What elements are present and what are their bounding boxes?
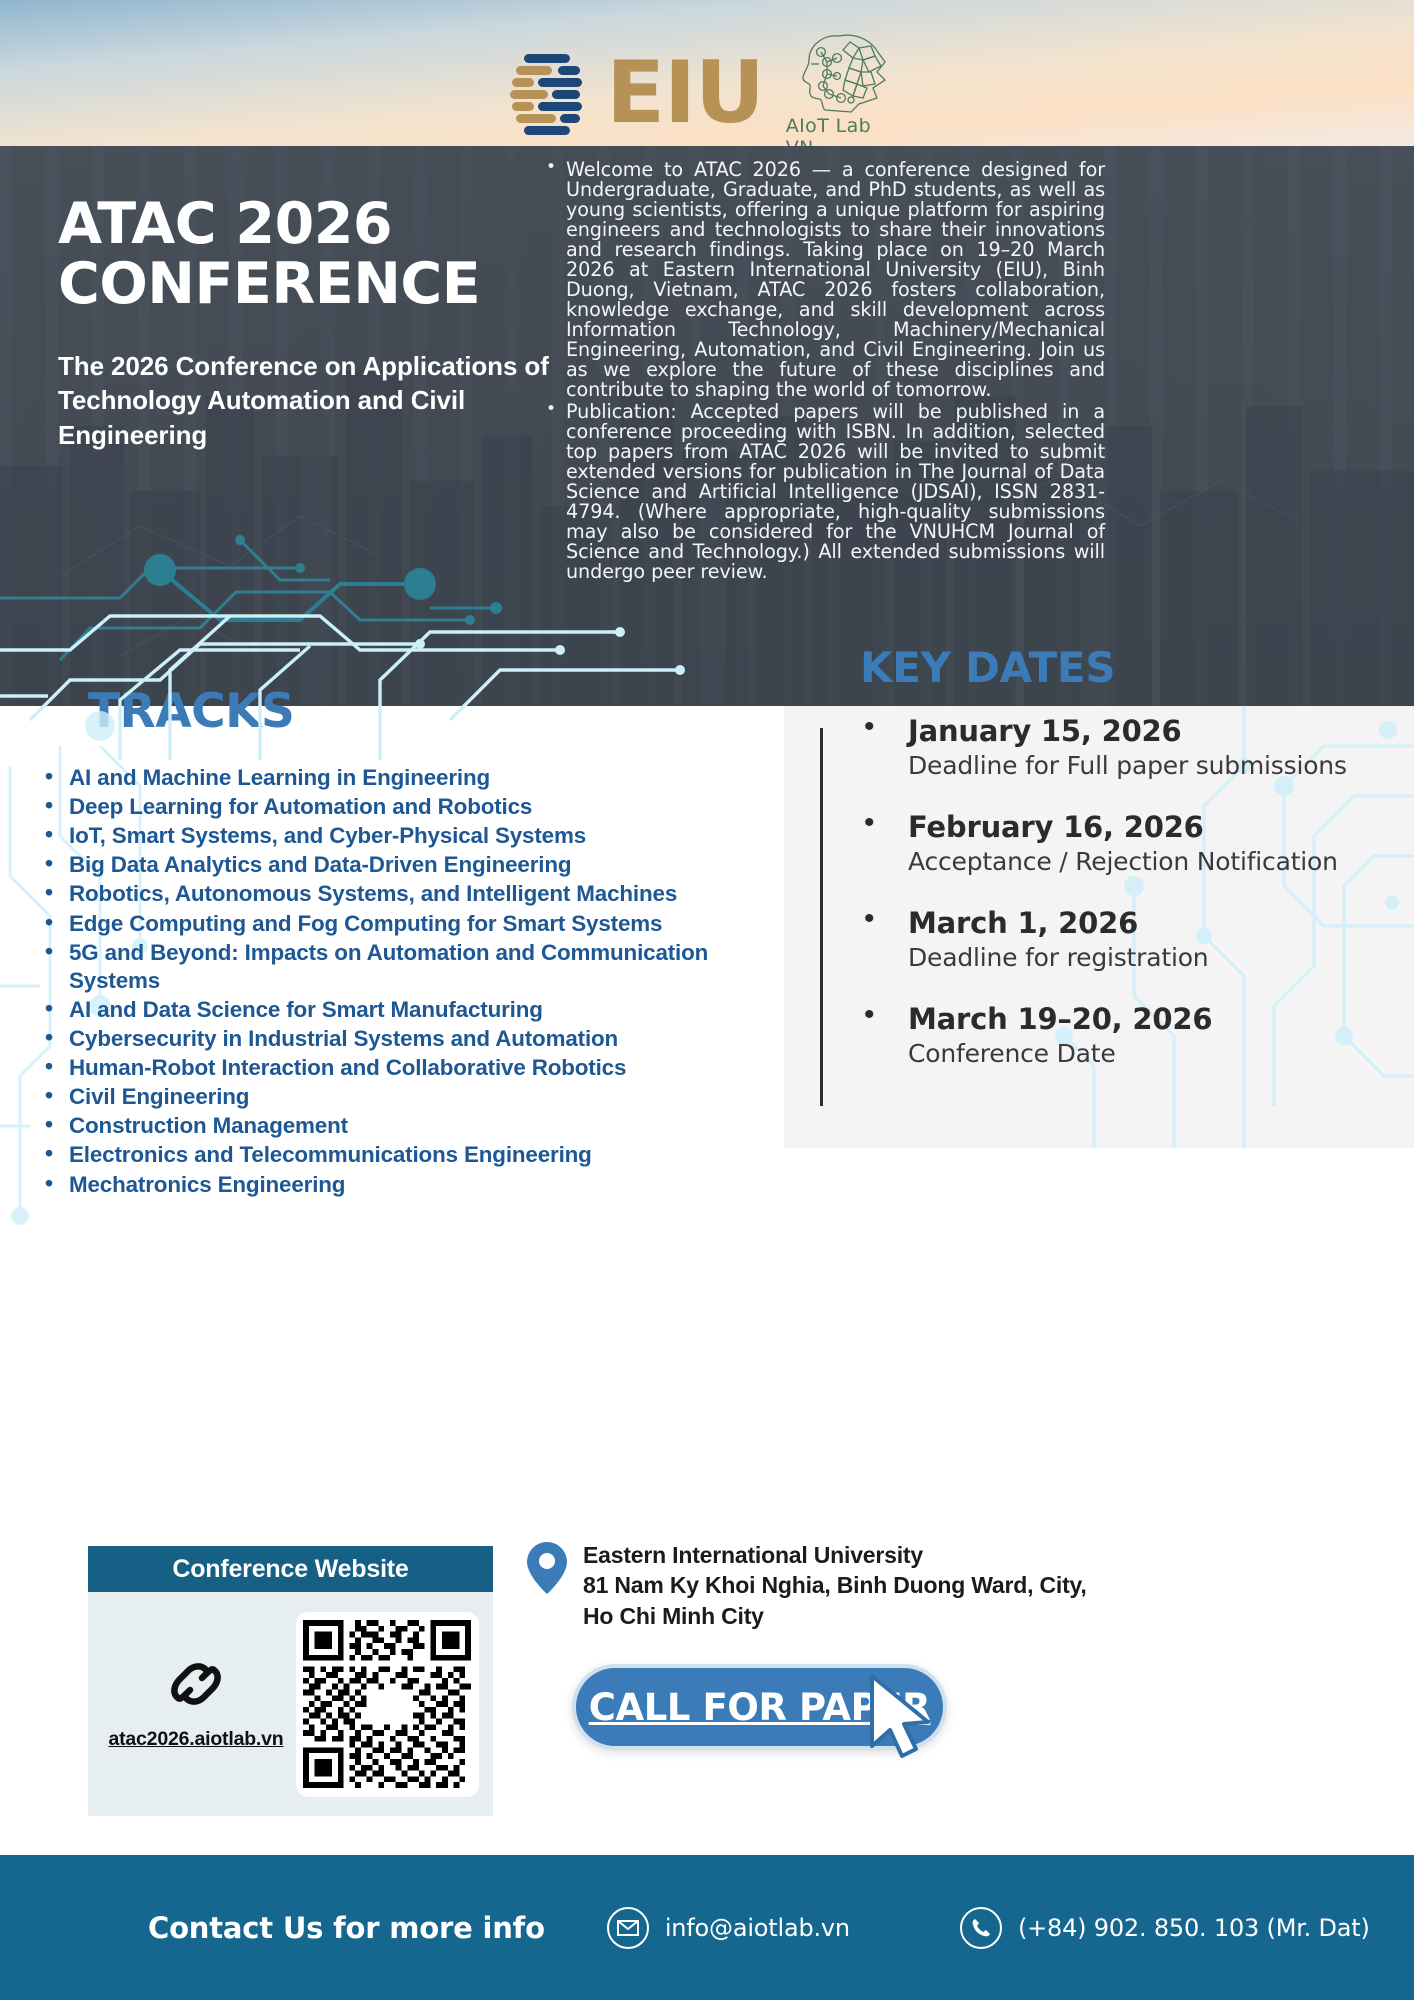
track-item: Civil Engineering xyxy=(22,1083,767,1111)
key-date-entry: March 1, 2026 Deadline for registration xyxy=(836,908,1356,972)
contact-title: Contact Us for more info xyxy=(148,1911,545,1945)
hero-title-line2: CONFERENCE xyxy=(58,254,558,314)
key-date-value: March 1, 2026 xyxy=(908,908,1356,940)
hero-banner: ATAC 2026 CONFERENCE The 2026 Conference… xyxy=(0,146,1414,706)
key-dates-list: January 15, 2026 Deadline for Full paper… xyxy=(836,716,1356,1101)
hero-bullet-welcome: Welcome to ATAC 2026 — a conference desi… xyxy=(540,160,1105,400)
track-item: Human-Robot Interaction and Collaborativ… xyxy=(22,1054,767,1082)
logo-row: EIU xyxy=(0,28,1414,158)
eiu-wordmark: EIU xyxy=(606,50,764,136)
key-dates-title: KEY DATES xyxy=(860,643,1115,692)
key-date-entry: February 16, 2026 Acceptance / Rejection… xyxy=(836,812,1356,876)
conference-website-url[interactable]: atac2026.aiotlab.vn xyxy=(108,1728,283,1751)
track-item: Mechatronics Engineering xyxy=(22,1171,767,1199)
contact-email-item[interactable]: info@aiotlab.vn xyxy=(607,1907,850,1949)
contact-email[interactable]: info@aiotlab.vn xyxy=(665,1914,850,1942)
conference-website-heading: Conference Website xyxy=(88,1546,493,1592)
track-item: Electronics and Telecommunications Engin… xyxy=(22,1141,767,1169)
key-date-description: Deadline for registration xyxy=(908,943,1356,972)
hero-title-line1: ATAC 2026 xyxy=(58,194,558,254)
track-item: 5G and Beyond: Impacts on Automation and… xyxy=(22,939,767,995)
key-date-description: Deadline for Full paper submissions xyxy=(908,751,1356,780)
conference-website-card[interactable]: Conference Website atac2026.aiotlab.vn xyxy=(88,1546,493,1816)
hero-title-block: ATAC 2026 CONFERENCE The 2026 Conference… xyxy=(58,194,558,453)
key-date-value: January 15, 2026 xyxy=(908,716,1356,748)
website-link-block[interactable]: atac2026.aiotlab.vn xyxy=(102,1658,290,1751)
contact-phone-item[interactable]: (+84) 902. 850. 103 (Mr. Dat) xyxy=(960,1907,1370,1949)
aiot-head-network-icon xyxy=(793,28,897,114)
track-item: IoT, Smart Systems, and Cyber-Physical S… xyxy=(22,822,767,850)
qr-code-container[interactable] xyxy=(296,1612,479,1797)
aiot-lab-logo: AIoT Lab VN xyxy=(786,28,904,159)
venue-line-2: 81 Nam Ky Khoi Nghia, Binh Duong Ward, C… xyxy=(583,1570,1087,1600)
track-item: Robotics, Autonomous Systems, and Intell… xyxy=(22,880,767,908)
eiu-stripes-logo-icon xyxy=(510,52,584,134)
track-item: AI and Machine Learning in Engineering xyxy=(22,764,767,792)
venue-block: Eastern International University 81 Nam … xyxy=(525,1540,1245,1631)
chain-link-icon xyxy=(166,1658,226,1710)
key-date-description: Conference Date xyxy=(908,1039,1356,1068)
mouse-cursor-icon xyxy=(862,1672,944,1764)
track-item: Construction Management xyxy=(22,1112,767,1140)
conference-website-body: atac2026.aiotlab.vn xyxy=(88,1592,493,1816)
call-for-paper-wrapper[interactable]: CALL FOR PAPER xyxy=(572,1664,947,1750)
track-item: AI and Data Science for Smart Manufactur… xyxy=(22,996,767,1024)
key-dates-section: KEY DATES January 15, 2026 Deadline for … xyxy=(784,706,1414,1148)
qr-code-icon xyxy=(303,1620,471,1788)
key-date-entry: March 19–20, 2026 Conference Date xyxy=(836,1004,1356,1068)
venue-address: Eastern International University 81 Nam … xyxy=(583,1540,1087,1631)
hero-description-block: Welcome to ATAC 2026 — a conference desi… xyxy=(540,160,1105,584)
track-item: Edge Computing and Fog Computing for Sma… xyxy=(22,910,767,938)
key-date-value: March 19–20, 2026 xyxy=(908,1004,1356,1036)
tracks-title: TRACKS xyxy=(88,684,294,739)
tracks-section: TRACKS AI and Machine Learning in Engine… xyxy=(0,706,784,1516)
envelope-icon xyxy=(607,1907,649,1949)
hero-bullet-publication: Publication: Accepted papers will be pub… xyxy=(540,402,1105,582)
tracks-list: AI and Machine Learning in Engineering D… xyxy=(22,764,767,1200)
phone-icon xyxy=(960,1907,1002,1949)
track-item: Cybersecurity in Industrial Systems and … xyxy=(22,1025,767,1053)
venue-line-3: Ho Chi Minh City xyxy=(583,1601,1087,1631)
track-item: Deep Learning for Automation and Robotic… xyxy=(22,793,767,821)
key-date-entry: January 15, 2026 Deadline for Full paper… xyxy=(836,716,1356,780)
contact-phone[interactable]: (+84) 902. 850. 103 (Mr. Dat) xyxy=(1018,1914,1370,1942)
venue-line-1: Eastern International University xyxy=(583,1540,1087,1570)
track-item: Big Data Analytics and Data-Driven Engin… xyxy=(22,851,767,879)
key-date-value: February 16, 2026 xyxy=(908,812,1356,844)
key-date-description: Acceptance / Rejection Notification xyxy=(908,847,1356,876)
key-dates-vertical-rule xyxy=(820,728,823,1106)
map-pin-icon xyxy=(525,1540,569,1596)
contact-footer: Contact Us for more info info@aiotlab.vn… xyxy=(0,1855,1414,2000)
hero-subtitle: The 2026 Conference on Applications of T… xyxy=(58,349,558,453)
